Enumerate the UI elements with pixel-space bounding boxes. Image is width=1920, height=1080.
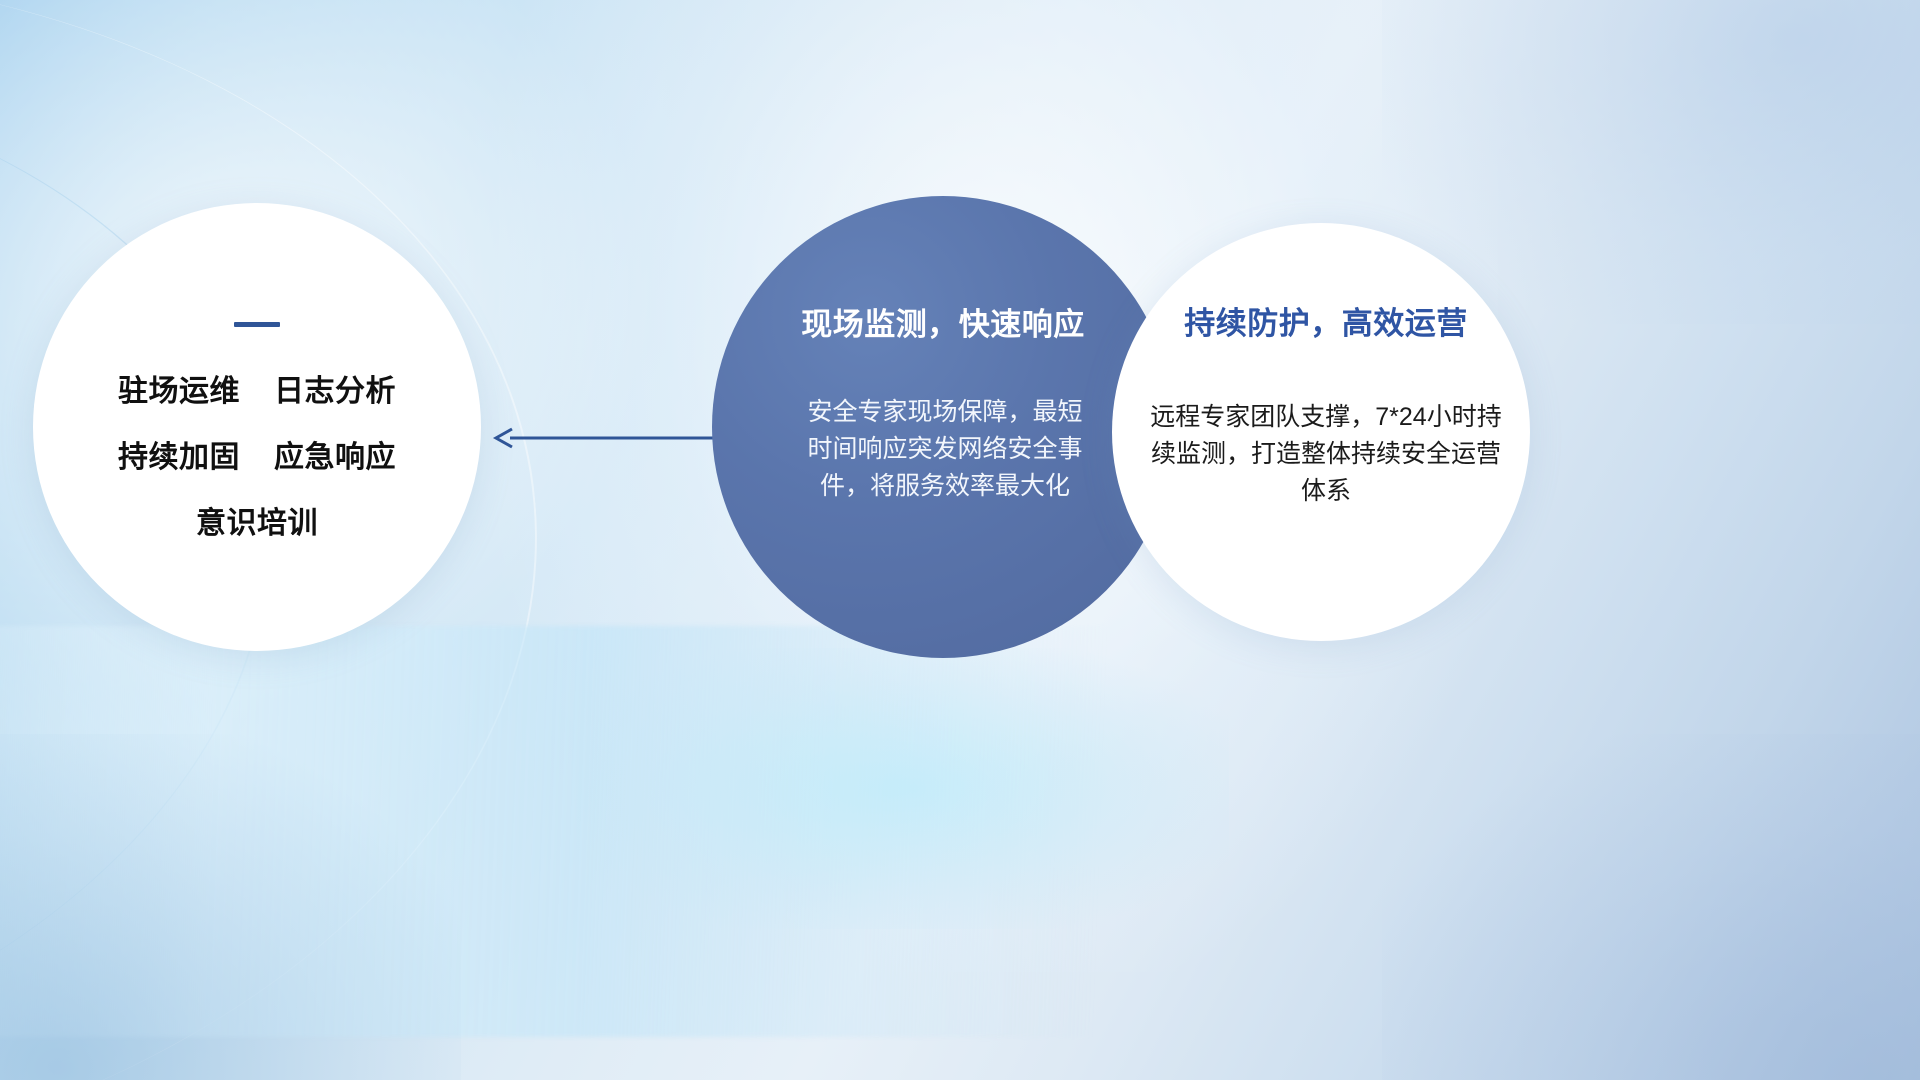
keyword-item: 应急响应 <box>274 443 396 473</box>
right-circle-title: 持续防护，高效运营 <box>1184 307 1468 341</box>
keyword-item: 驻场运维 <box>118 377 240 407</box>
diagram-stage: 驻场运维 日志分析 持续加固 应急响应 意识培训 现场监测，快速响应 安全专家现… <box>0 0 1920 1080</box>
middle-circle-content: 现场监测，快速响应 安全专家现场保障，最短时间响应突发网络安全事件，将服务效率最… <box>712 196 1174 658</box>
right-circle-body: 远程专家团队支撑，7*24小时持续监测，打造整体持续安全运营体系 <box>1150 399 1502 510</box>
keyword-item: 日志分析 <box>274 377 396 407</box>
middle-circle-title: 现场监测，快速响应 <box>801 308 1085 342</box>
left-circle-content: 驻场运维 日志分析 持续加固 应急响应 意识培训 <box>33 203 481 651</box>
keyword-item: 持续加固 <box>118 443 240 473</box>
keyword-item: 意识培训 <box>196 509 318 539</box>
connector-arrow <box>492 424 718 452</box>
keyword-row: 驻场运维 日志分析 <box>118 377 396 407</box>
dash-divider-icon <box>234 322 280 327</box>
right-circle-content: 持续防护，高效运营 远程专家团队支撑，7*24小时持续监测，打造整体持续安全运营… <box>1112 223 1530 641</box>
keyword-row: 意识培训 <box>196 509 318 539</box>
middle-circle-body: 安全专家现场保障，最短时间响应突发网络安全事件，将服务效率最大化 <box>802 394 1088 505</box>
keyword-row: 持续加固 应急响应 <box>118 443 396 473</box>
arrow-left-icon <box>492 424 718 452</box>
